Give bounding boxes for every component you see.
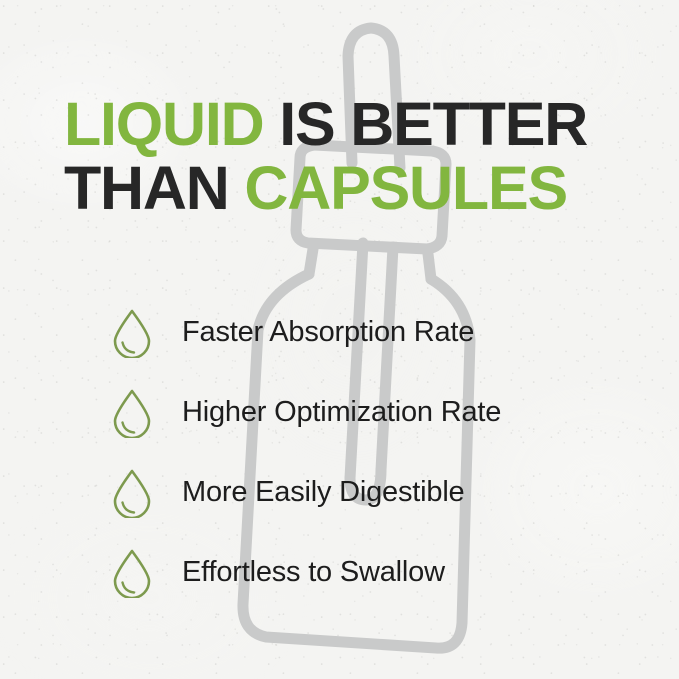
headline-word-capsules: CAPSULES — [244, 154, 567, 222]
water-droplet-icon — [108, 466, 156, 518]
headline-word-liquid: LIQUID — [64, 90, 264, 158]
water-droplet-icon — [108, 546, 156, 598]
headline-phrase-is-better: IS BETTER — [264, 90, 588, 158]
headline-line-2: THAN CAPSULES — [64, 156, 644, 220]
benefit-label-3: More Easily Digestible — [182, 476, 465, 509]
benefit-list: Faster Absorption Rate Higher Optimizati… — [108, 292, 648, 612]
product-infographic-card: LIQUID IS BETTER THAN CAPSULES Faster Ab… — [0, 0, 679, 679]
water-droplet-icon — [108, 306, 156, 358]
headline: LIQUID IS BETTER THAN CAPSULES — [64, 92, 644, 220]
benefit-label-2: Higher Optimization Rate — [182, 396, 501, 429]
headline-line-1: LIQUID IS BETTER — [64, 92, 644, 156]
benefit-label-1: Faster Absorption Rate — [182, 316, 474, 349]
water-droplet-icon — [108, 386, 156, 438]
benefit-item-4: Effortless to Swallow — [108, 532, 648, 612]
benefit-item-1: Faster Absorption Rate — [108, 292, 648, 372]
headline-word-than: THAN — [64, 154, 244, 222]
benefit-item-2: Higher Optimization Rate — [108, 372, 648, 452]
benefit-label-4: Effortless to Swallow — [182, 556, 445, 589]
benefit-item-3: More Easily Digestible — [108, 452, 648, 532]
